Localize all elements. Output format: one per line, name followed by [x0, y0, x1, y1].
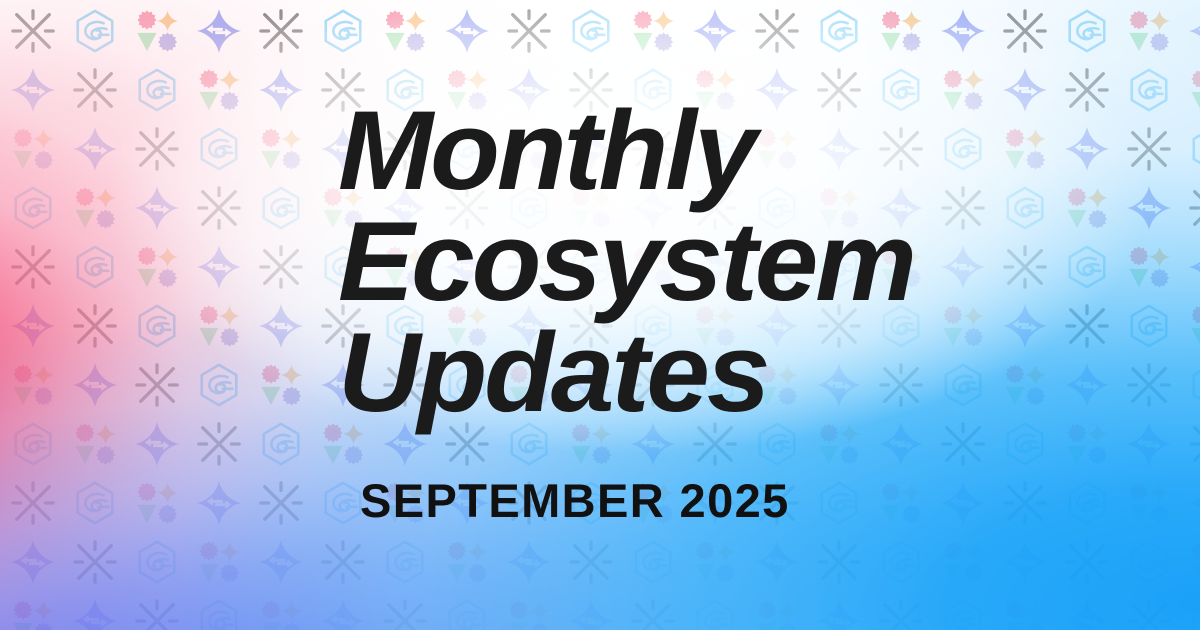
page-title: Monthly Ecosystem Updates — [338, 96, 914, 429]
title-line-3: Updates — [338, 318, 914, 429]
subtitle-date: SEPTEMBER 2025 — [360, 473, 790, 528]
title-line-2: Ecosystem — [338, 207, 914, 318]
title-block: Monthly Ecosystem Updates SEPTEMBER 2025 — [0, 0, 1200, 630]
banner-canvas: Monthly Ecosystem Updates SEPTEMBER 2025 — [0, 0, 1200, 630]
title-line-1: Monthly — [338, 96, 914, 207]
